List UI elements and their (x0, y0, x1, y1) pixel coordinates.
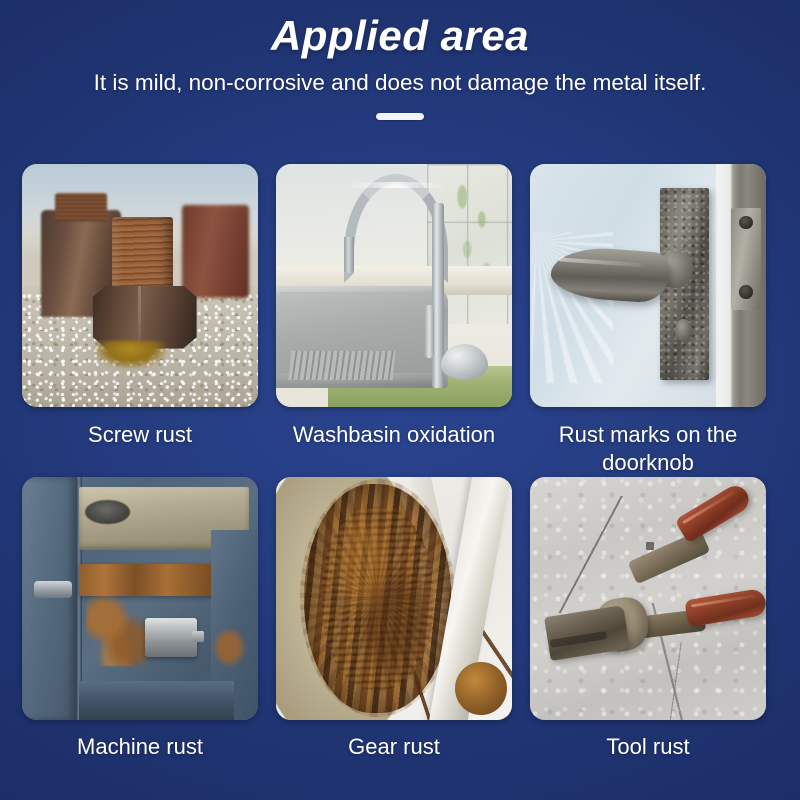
tile-machine-rust[interactable]: Machine rust (22, 477, 258, 761)
tile-caption: Rust marks on the doorknob (530, 421, 766, 477)
tile-caption: Washbasin oxidation (276, 421, 512, 449)
industrial-machine-rust-photo (22, 477, 258, 720)
door-lever-handle-photo (530, 164, 766, 407)
tile-tool-rust[interactable]: Tool rust (530, 477, 766, 761)
bicycle-cassette-rust-photo (276, 477, 512, 720)
divider-wrap (0, 113, 800, 120)
title-divider (376, 113, 424, 120)
applied-area-infographic: { "header": { "title": "Applied area", "… (0, 0, 800, 800)
applied-area-grid: Screw rust Washbasin oxidation (22, 164, 766, 761)
page-title: Applied area (0, 12, 800, 60)
chrome-faucet-stainless-sink-photo (276, 164, 512, 407)
tile-washbasin-oxidation[interactable]: Washbasin oxidation (276, 164, 512, 477)
tile-caption: Tool rust (530, 733, 766, 761)
tile-doorknob-rust-marks[interactable]: Rust marks on the doorknob (530, 164, 766, 477)
tile-gear-rust[interactable]: Gear rust (276, 477, 512, 761)
tile-caption: Gear rust (276, 733, 512, 761)
rusty-bolts-on-concrete-photo (22, 164, 258, 407)
rusty-pliers-photo (530, 477, 766, 720)
tile-caption: Screw rust (22, 421, 258, 449)
page-subtitle: It is mild, non-corrosive and does not d… (0, 69, 800, 96)
tile-caption: Machine rust (22, 733, 258, 761)
tile-screw-rust[interactable]: Screw rust (22, 164, 258, 477)
header: Applied area It is mild, non-corrosive a… (0, 0, 800, 120)
